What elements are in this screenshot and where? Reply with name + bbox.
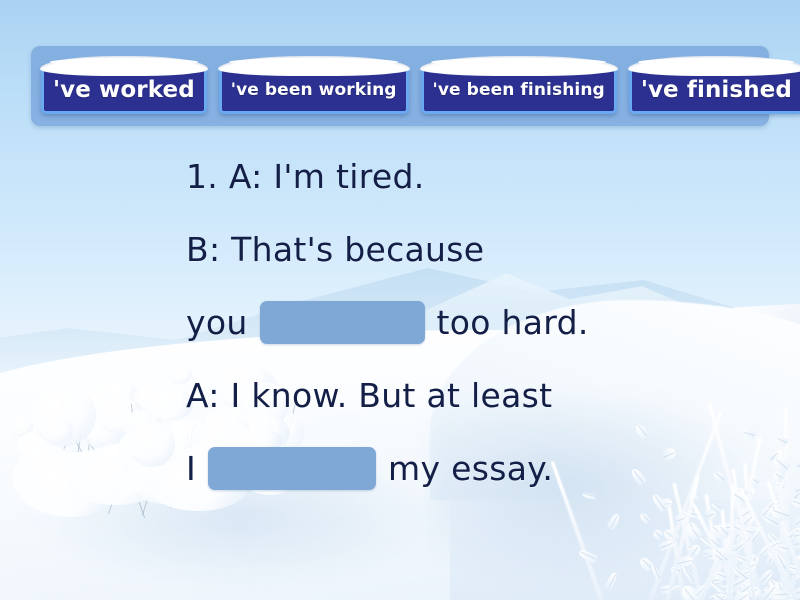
snow-cap-icon (218, 56, 410, 76)
snow-cap-icon (628, 56, 800, 76)
sentence-text: my essay. (388, 449, 553, 488)
sentence-text: B: That's because (186, 230, 484, 269)
tile-row: 've worked've been working've been finis… (31, 46, 769, 126)
sentence-line-3: youtoo hard. (186, 286, 772, 359)
sentence-text: too hard. (437, 303, 589, 342)
answer-gap-g2[interactable] (208, 447, 376, 490)
sentence-line-5: Imy essay. (186, 432, 772, 505)
sentence-line-2: B: That's because (186, 213, 772, 286)
answer-tile-2[interactable]: 've been finishing (421, 66, 617, 114)
sentence-line-1: 1. A: I'm tired. (186, 140, 772, 213)
answer-tiles-tray: 've worked've been working've been finis… (31, 46, 769, 126)
sentence-text: I (186, 449, 196, 488)
sentence-text: A: I know. But at least (186, 376, 552, 415)
answer-tile-label: 've been working (222, 80, 406, 100)
answer-tile-label: 've been finishing (424, 80, 614, 100)
sentence-text: 1. A: I'm tired. (186, 157, 425, 196)
question-text-block: 1. A: I'm tired.B: That's becauseyoutoo … (0, 140, 800, 560)
snow-cap-icon (420, 56, 618, 76)
sentence-line-4: A: I know. But at least (186, 359, 772, 432)
answer-tile-3[interactable]: 've finished (629, 66, 800, 114)
answer-tile-1[interactable]: 've been working (219, 66, 409, 114)
answer-tile-0[interactable]: 've worked (41, 66, 207, 114)
snow-cap-icon (40, 56, 208, 76)
answer-tile-label: 've finished (632, 77, 800, 103)
sentence-text: you (186, 303, 248, 342)
answer-tile-label: 've worked (44, 77, 204, 103)
activity-stage: 've worked've been working've been finis… (0, 0, 800, 600)
answer-gap-g1[interactable] (260, 301, 425, 344)
